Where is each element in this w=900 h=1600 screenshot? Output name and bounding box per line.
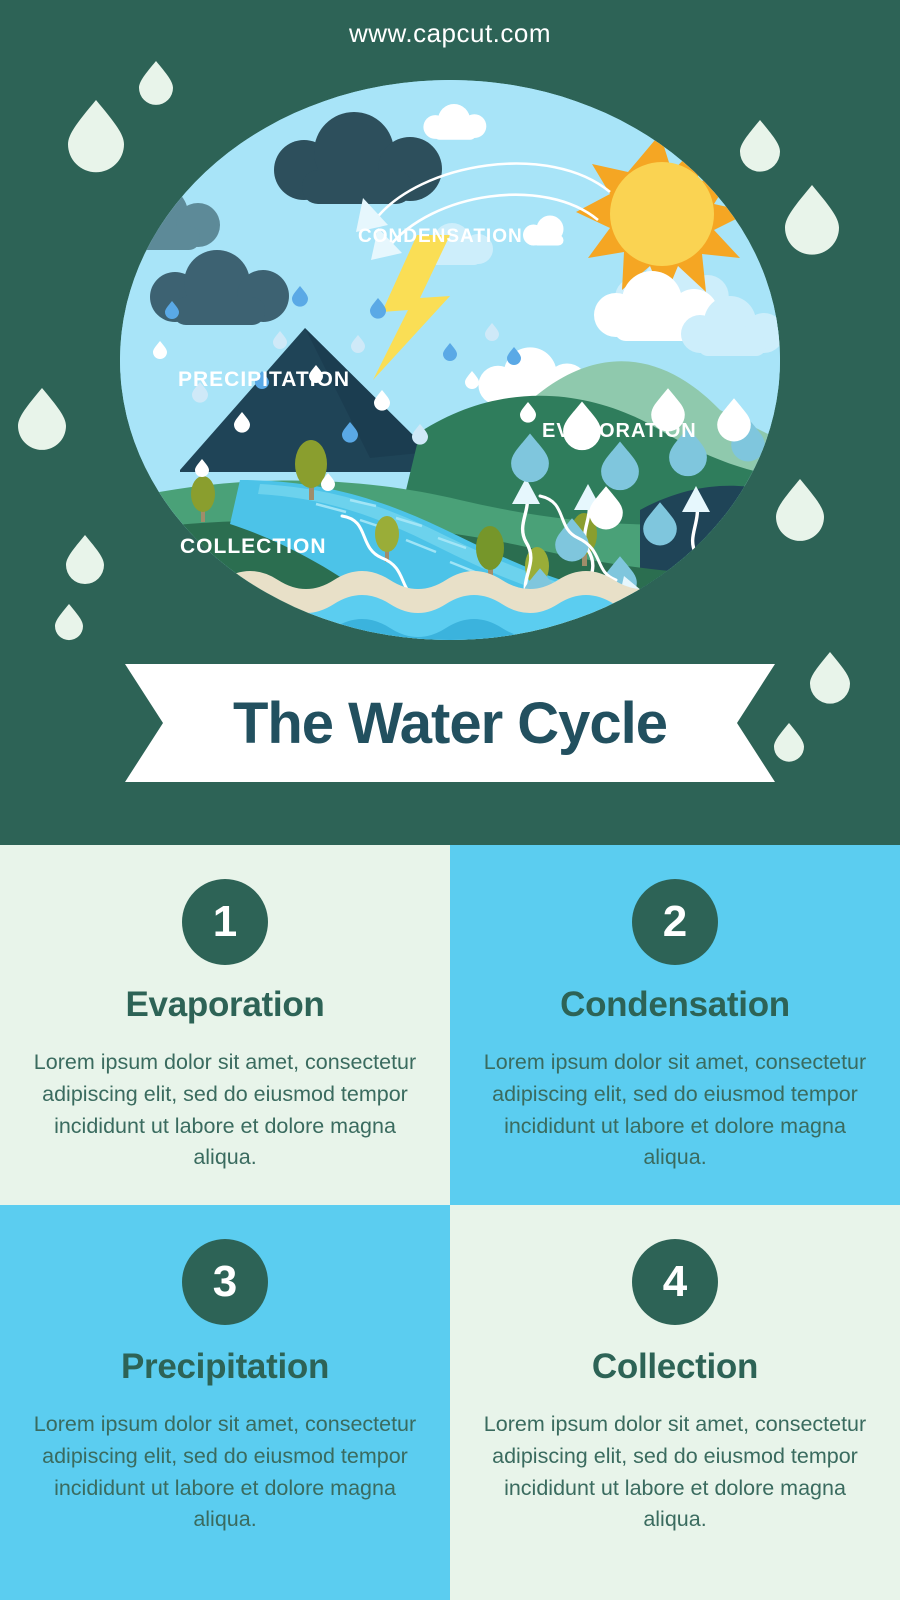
step-card-collection[interactable]: 4 Collection Lorem ipsum dolor sit amet,… xyxy=(450,1205,900,1600)
step-title: Precipitation xyxy=(121,1347,329,1387)
label-precipitation: PRECIPITATION xyxy=(178,368,350,392)
step-number-badge: 3 xyxy=(182,1239,268,1325)
step-title: Evaporation xyxy=(126,985,325,1025)
step-description: Lorem ipsum dolor sit amet, consectetur … xyxy=(26,1047,424,1174)
step-number-badge: 4 xyxy=(632,1239,718,1325)
label-collection: COLLECTION xyxy=(180,535,327,559)
step-card-precipitation[interactable]: 3 Precipitation Lorem ipsum dolor sit am… xyxy=(0,1205,450,1600)
step-title: Condensation xyxy=(560,985,790,1025)
step-card-condensation[interactable]: 2 Condensation Lorem ipsum dolor sit ame… xyxy=(450,845,900,1205)
hero-section: www.capcut.com xyxy=(0,0,900,840)
step-number-badge: 1 xyxy=(182,879,268,965)
label-evaporation: EVAPORATION xyxy=(542,420,697,443)
label-condensation: CONDENSATION xyxy=(358,226,523,248)
page-title: The Water Cycle xyxy=(233,690,667,757)
step-card-evaporation[interactable]: 1 Evaporation Lorem ipsum dolor sit amet… xyxy=(0,845,450,1205)
title-ribbon-content: The Water Cycle xyxy=(125,664,775,782)
step-title: Collection xyxy=(592,1347,758,1387)
step-description: Lorem ipsum dolor sit amet, consectetur … xyxy=(476,1409,874,1536)
step-description: Lorem ipsum dolor sit amet, consectetur … xyxy=(26,1409,424,1536)
step-number-badge: 2 xyxy=(632,879,718,965)
steps-grid: 1 Evaporation Lorem ipsum dolor sit amet… xyxy=(0,845,900,1600)
infographic-page: www.capcut.com xyxy=(0,0,900,1600)
step-description: Lorem ipsum dolor sit amet, consectetur … xyxy=(476,1047,874,1174)
